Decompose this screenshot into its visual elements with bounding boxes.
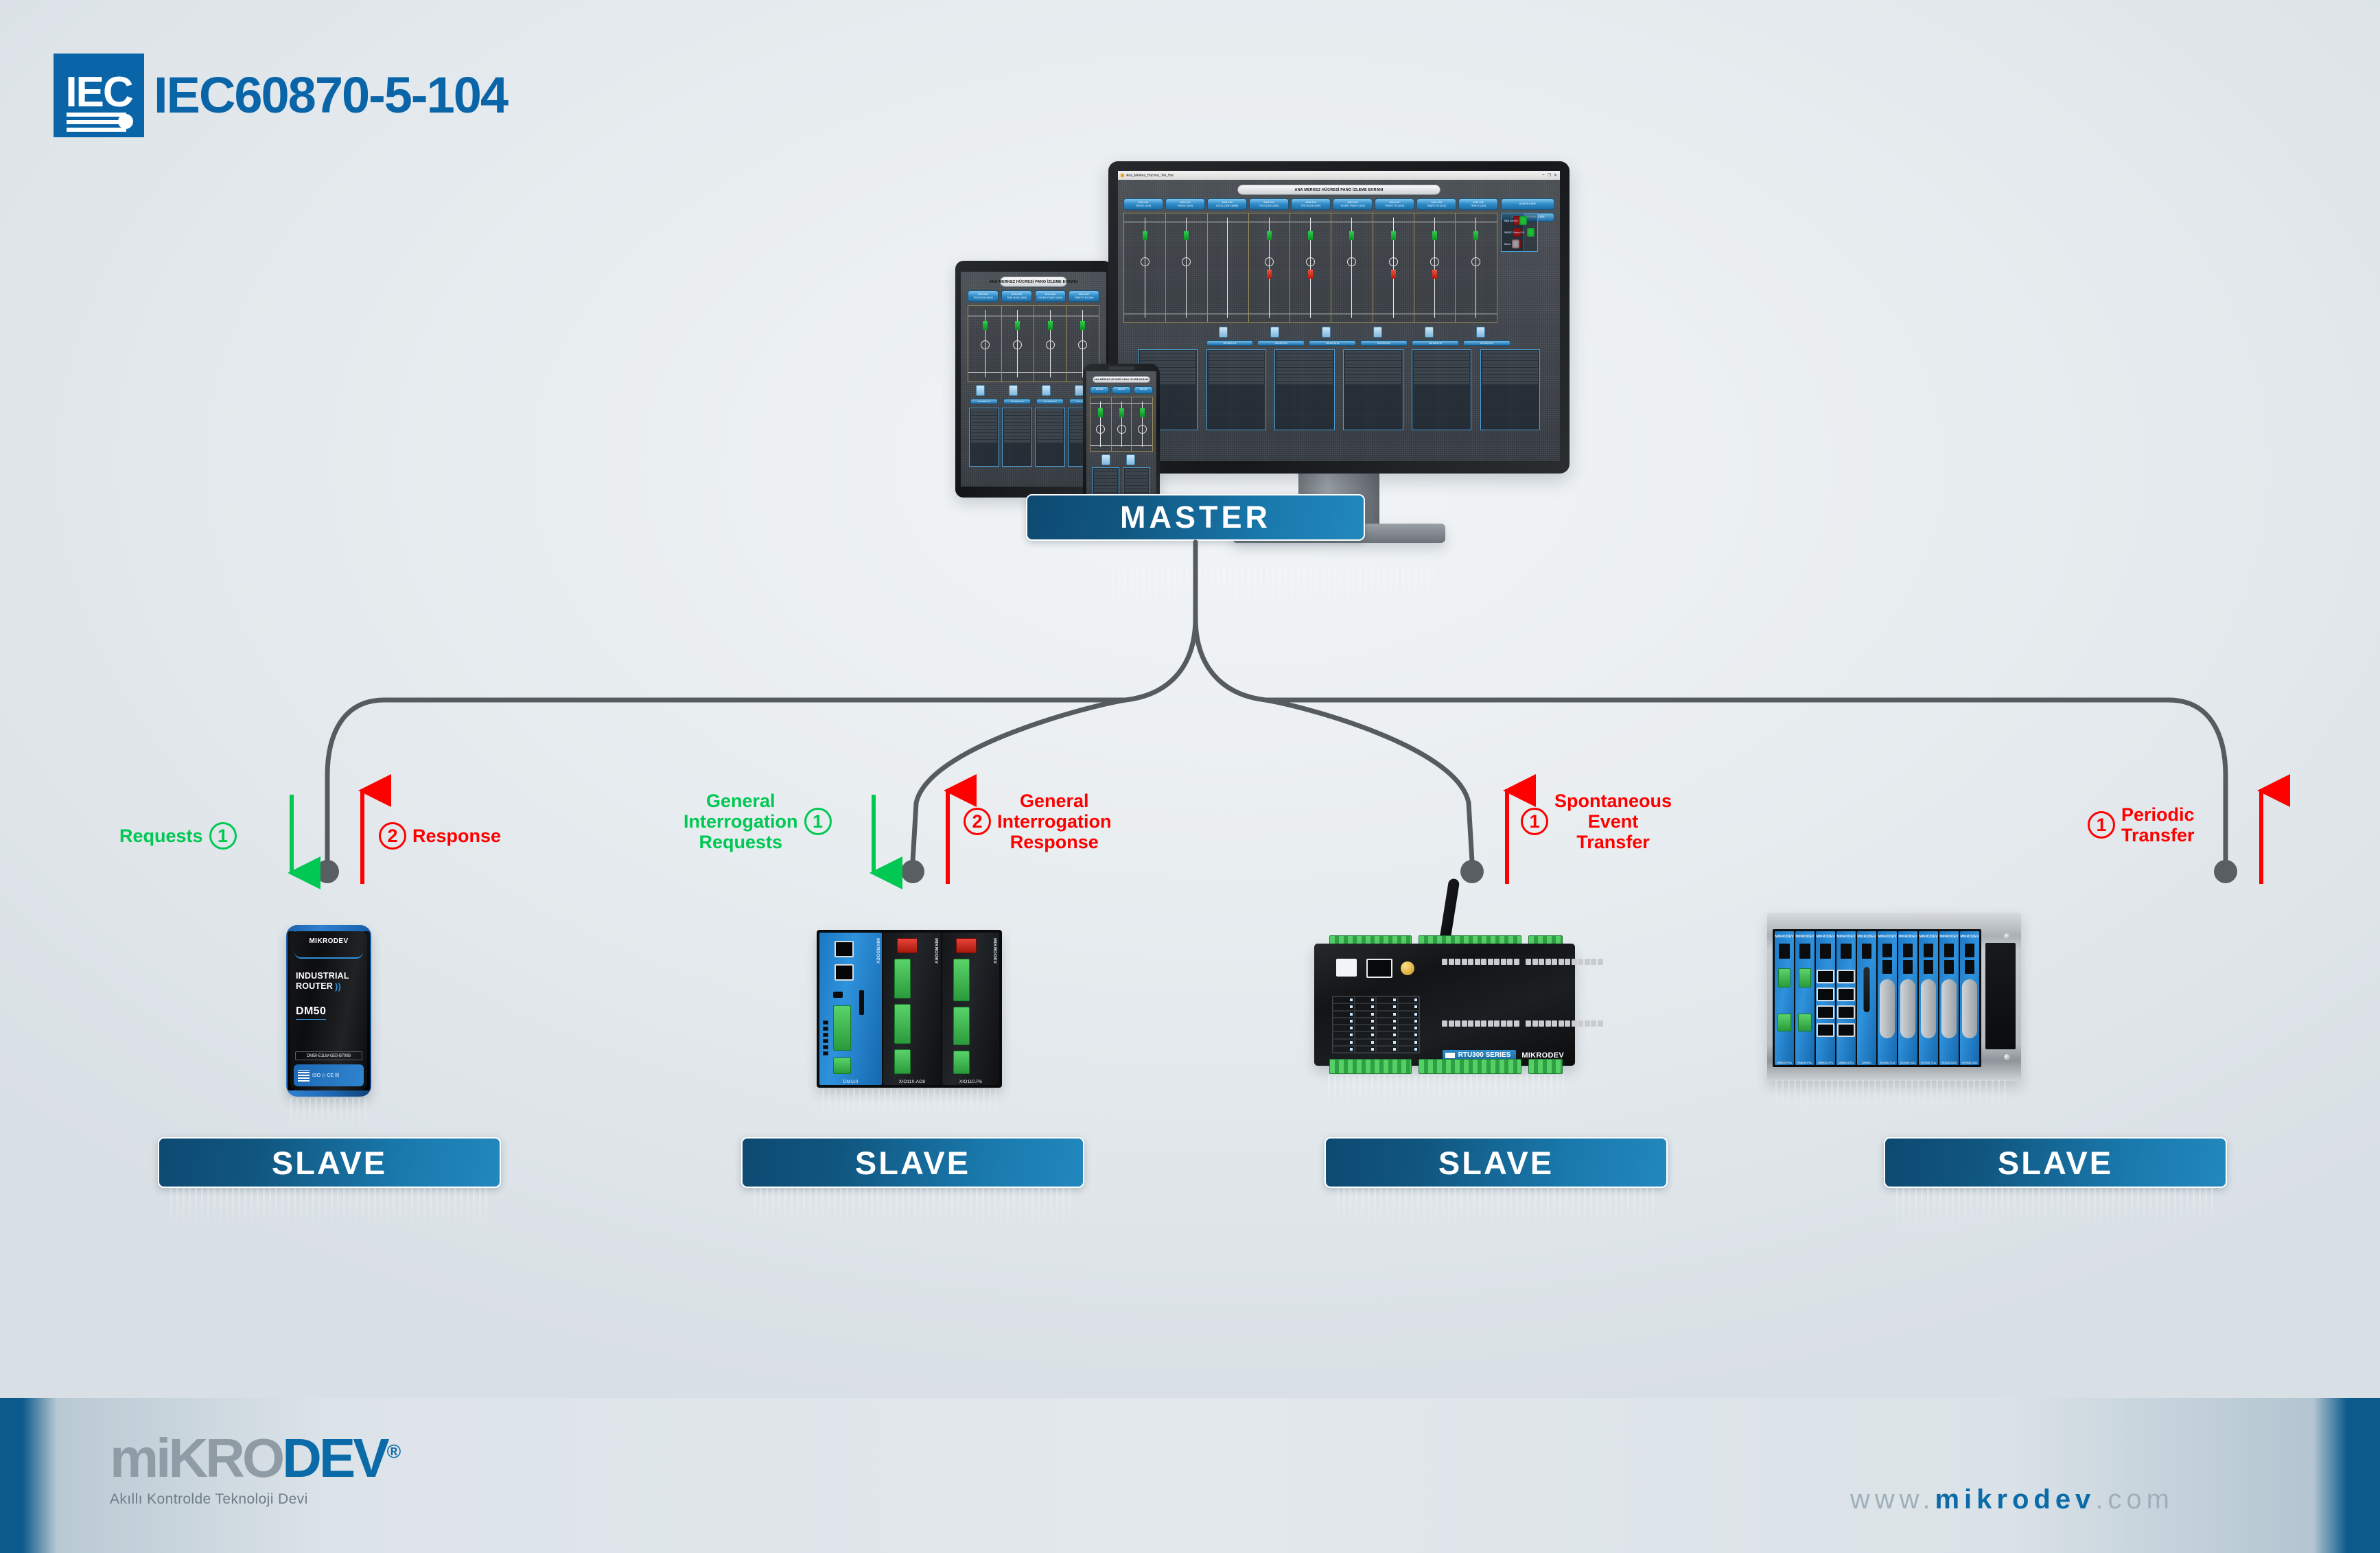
flow-label-periodic-transfer: 1 Periodic Transfer — [2088, 804, 2195, 845]
status-led — [1527, 228, 1535, 237]
slave-badge-1[interactable]: SLAVE — [158, 1137, 501, 1188]
rack-card-ai12: MIKRODEV XIO500.AI12 — [1919, 931, 1938, 1065]
window-maximize-icon[interactable]: ❐ — [1548, 173, 1551, 178]
router-title-line1: INDUSTRIAL — [296, 971, 362, 981]
plc-module-label: XIO110.P6 — [942, 1079, 999, 1084]
rack-card-di32: MIKRODEV XIO500.DI32 — [1960, 931, 1979, 1065]
rack-card-label: XIO500.DI32 — [1939, 1061, 1959, 1064]
rack-card-psu: MIKRODEV DM500.PSU — [1775, 931, 1794, 1065]
plc-module-cpu: MIKRODEV DM110 — [819, 933, 882, 1085]
scada-window-titlebar: Ana_Merkez_Hucresi_Tek_Hat – ❐ ✕ — [1118, 171, 1560, 180]
scada-window-title: Ana_Merkez_Hucresi_Tek_Hat — [1126, 174, 1174, 178]
flow-label-spontaneous-event-transfer: 1 Spontaneous Event Transfer — [1521, 791, 1672, 853]
flow-label-response: 2 Response — [379, 822, 501, 850]
scada-cell-button[interactable]: ADM-A03OG ÖLÇÜM KABİNİ — [1207, 198, 1247, 210]
scada-ip-label: 192.168.10.11 — [1206, 340, 1254, 346]
wire-endpoint-dot — [316, 860, 339, 883]
flow-label-requests: Requests 1 — [119, 822, 237, 850]
rack-card-ai12: MIKRODEV XIO500.AI12 — [1878, 931, 1897, 1065]
rack-card-label: XIO500.AI12 — [1878, 1061, 1897, 1064]
scada-screen-title-desktop: ANA MERKEZ HÜCRESİ PANO İZLEME EKRANI — [1237, 185, 1440, 195]
mikrodev-logo: miKRODEV® Akıllı Kontrolde Teknoloji Dev… — [110, 1431, 401, 1508]
wire-endpoint-dot — [901, 860, 924, 883]
scada-screen-desktop: Ana_Merkez_Hucresi_Tek_Hat – ❐ ✕ ANA MER… — [1118, 171, 1560, 461]
scada-cell-button[interactable]: ADM-A05TEKİ SLÜK ÇIKIŞ — [1001, 290, 1032, 302]
qr-code-icon — [298, 1070, 310, 1082]
scada-mimic-diagram-tablet — [968, 305, 1099, 382]
rack-card-label: DM500.CPU — [1836, 1061, 1856, 1064]
router-model: DM50 — [296, 1005, 326, 1020]
slave-badge-2[interactable]: SLAVE — [741, 1137, 1084, 1188]
scada-ip-label: 192.168.10.16 — [1463, 340, 1510, 346]
step-number-badge: 1 — [804, 808, 832, 835]
rack-card-label: DM500.CPU — [1816, 1061, 1835, 1064]
slave-device-modular-plc: MIKRODEV DM110 MIKRODEV XIO110.AO8 MIKRO… — [817, 930, 1002, 1088]
rack-card-label: XIO500.AI12 — [1919, 1061, 1938, 1064]
router-part-number: DM50-E1LW-GE0-B700B — [295, 1051, 362, 1060]
iec-logo-text: IEC — [54, 71, 144, 114]
url-prefix: www. — [1850, 1484, 1935, 1515]
scada-ip-label: 192.168.10.12 — [1257, 340, 1305, 346]
scada-cell-button[interactable]: ADM-A01YEDEK ÇIKIŞ — [1123, 198, 1163, 210]
scada-cell-button[interactable]: ADM-A07 — [1112, 386, 1131, 394]
brand-text-part2: RO — [205, 1427, 282, 1488]
rack-card-psu: MIKRODEV DM500.PSU — [1795, 931, 1815, 1065]
ethernet-port-icon — [1366, 959, 1392, 978]
scada-screen-title-tablet: ANA MERKEZ HÜCRESİ PANO İZLEME EKRANI — [1000, 277, 1067, 287]
scada-ip-label: 192.168.10.12 — [1003, 399, 1031, 404]
scada-ip-label: 192.168.10.15 — [1412, 340, 1459, 346]
plc-module-ao8: MIKRODEV XIO110.AO8 — [883, 933, 940, 1085]
scada-cell-button[interactable]: ADM-A07TRAFO TB ÇIKIŞ — [1069, 290, 1099, 302]
slave-device-industrial-router: MIKRODEV INDUSTRIAL ROUTER )) DM50 DM50-… — [286, 925, 371, 1097]
rack-backplane-connector — [1985, 943, 2016, 1049]
master-device-cluster: ANA MERKEZ HÜCRESİ PANO İZLEME EKRANI AD… — [947, 96, 1441, 522]
rack-card-cpu: MIKRODEV DM500.CPU — [1816, 931, 1835, 1065]
module-brand: MIKRODEV — [934, 938, 939, 964]
slave-badge-3[interactable]: SLAVE — [1325, 1137, 1668, 1188]
scada-cell-button[interactable]: ADM-A06 — [1090, 386, 1109, 394]
step-number-badge: 1 — [209, 822, 237, 850]
router-brand: MIKRODEV — [295, 937, 362, 945]
rack-card-label: DM500.PSU — [1775, 1061, 1794, 1064]
step-number-badge: 2 — [964, 808, 991, 835]
flow-label-general-interrogation-response: 2 General Interrogation Response — [964, 791, 1112, 853]
rack-card-modem: MIKRODEV DM500 — [1857, 931, 1876, 1065]
certification-marks: ISO ◇ CE ☒ — [312, 1073, 339, 1078]
scada-comm-header: HABERLEŞME — [1501, 198, 1554, 210]
scada-cell-button[interactable]: ADM-A06YEDEK TRAFO ÇIKIŞ — [1035, 290, 1066, 302]
step-number-badge: 1 — [2088, 811, 2115, 839]
brand-text-part3: DEV — [282, 1427, 387, 1488]
flow-label-general-interrogation-requests: General Interrogation Requests 1 — [684, 791, 832, 853]
wire-endpoint-dot — [2214, 860, 2237, 883]
step-number-badge: 1 — [1521, 808, 1548, 835]
brand-tagline: Akıllı Kontrolde Teknoloji Devi — [110, 1491, 401, 1508]
rtu-led-indicator-grid — [1332, 996, 1420, 1053]
plc-module-label: DM110 — [819, 1079, 882, 1084]
rtu-body: RTU300 SERIES MIKRODEV — [1314, 944, 1575, 1066]
slave-badge-4[interactable]: SLAVE — [1884, 1137, 2227, 1188]
website-url[interactable]: www.mikrodev.com — [1850, 1484, 2174, 1515]
smartphone-device: ANA MERKEZ HÜCRESİ PANO İZLEME EKRANI AD… — [1083, 364, 1160, 508]
wifi-icon: )) — [335, 981, 341, 992]
rack-card-di32: MIKRODEV XIO500.DI32 — [1939, 931, 1959, 1065]
scada-mimic-diagram-desktop — [1123, 213, 1497, 323]
desktop-monitor-device: Ana_Merkez_Hucresi_Tek_Hat – ❐ ✕ ANA MER… — [1108, 161, 1570, 535]
page-title: IEC60870-5-104 — [154, 70, 507, 121]
iec-logo-icon: IEC — [54, 54, 144, 137]
wire-endpoint-dot — [1460, 860, 1484, 883]
scada-ip-label: 192.168.10.14 — [1360, 340, 1408, 346]
scada-cell-buttons-tablet: ADM-A04TEKİ SLÜK ÇIKIŞ ADM-A05TEKİ SLÜK … — [961, 290, 1106, 302]
scada-cell-button[interactable]: ADM-A07TRAFO TB ÇIKIŞ — [1375, 198, 1414, 210]
scada-ip-label: 192.168.10.13 — [1036, 399, 1064, 404]
rack-card-slots: MIKRODEV DM500.PSU MIKRODEV DM500.PSU MI… — [1773, 929, 1981, 1067]
scada-cell-button[interactable]: ADM-A06YEDEK TRAFO ÇIKIŞ — [1333, 198, 1373, 210]
footer: miKRODEV® Akıllı Kontrolde Teknoloji Dev… — [0, 1398, 2380, 1553]
rack-card-label: DM500 — [1857, 1061, 1876, 1064]
scada-status-panel: Giriş Gerilimi YARDC Sistemi OK Arıza — [1501, 213, 1538, 252]
rtu-brand: MIKRODEV — [1521, 1051, 1564, 1060]
window-minimize-icon[interactable]: – — [1542, 173, 1544, 178]
scada-ip-label: 192.168.10.13 — [1309, 340, 1356, 346]
monitor-bezel: Ana_Merkez_Hucresi_Tek_Hat – ❐ ✕ ANA MER… — [1108, 161, 1570, 474]
rack-card-ai12: MIKRODEV XIO500.AI12 — [1898, 931, 1917, 1065]
slave-device-rtu300: RTU300 SERIES MIKRODEV — [1314, 944, 1575, 1081]
master-badge[interactable]: MASTER — [1026, 494, 1365, 541]
slave-device-modular-rack: MIKRODEV DM500.PSU MIKRODEV DM500.PSU MI… — [1767, 913, 2021, 1081]
registered-trademark-icon: ® — [387, 1440, 401, 1462]
scada-cell-button[interactable]: ADM-A08TRAFO TB ÇIKIŞ — [1416, 198, 1456, 210]
scada-cell-button[interactable]: ADM-A09TRAFO ÇIKIŞ — [1458, 198, 1498, 210]
scada-screen-title-phone: ANA MERKEZ HÜCRESİ PANO İZLEME EKRANI — [1093, 376, 1150, 383]
url-suffix: .com — [2095, 1484, 2174, 1515]
scada-ip-label: 192.168.10.11 — [970, 399, 998, 404]
scada-screen-phone: ANA MERKEZ HÜCRESİ PANO İZLEME EKRANI AD… — [1086, 371, 1156, 500]
status-led — [1519, 216, 1527, 225]
plc-dm110-stack: MIKRODEV DM110 MIKRODEV XIO110.AO8 MIKRO… — [817, 930, 1002, 1088]
scada-cell-button[interactable]: ADM-A04TEKİ SLÜK ÇIKIŞ — [1249, 198, 1289, 210]
plc-module-p6: MIKRODEV XIO110.P6 — [942, 933, 999, 1085]
scada-cell-button[interactable]: ADM-A05TEKİ SLÜK ÇIKIŞ — [1291, 198, 1331, 210]
router-title-line2: ROUTER — [296, 981, 333, 992]
rack-card-label: XIO500.DI32 — [1960, 1061, 1979, 1064]
window-close-icon[interactable]: ✕ — [1554, 173, 1557, 178]
scada-cell-button[interactable]: ADM-A02YEDEK ÇIKIŞ — [1165, 198, 1205, 210]
brand-text-part1: miK — [110, 1427, 205, 1488]
step-number-badge: 2 — [379, 822, 406, 850]
scada-cell-button[interactable]: ADM-A08 — [1134, 386, 1153, 394]
header: IEC IEC60870-5-104 — [54, 54, 507, 137]
status-led — [1512, 240, 1519, 248]
module-brand: MIKRODEV — [875, 938, 880, 964]
usb-port-icon — [1336, 959, 1357, 977]
rack-card-label: DM500.PSU — [1795, 1061, 1815, 1064]
rack-card-label: XIO500.AI12 — [1898, 1061, 1917, 1064]
router-dm50: MIKRODEV INDUSTRIAL ROUTER )) DM50 DM50-… — [286, 925, 371, 1097]
scada-cell-button[interactable]: ADM-A04TEKİ SLÜK ÇIKIŞ — [968, 290, 999, 302]
module-brand: MIKRODEV — [992, 938, 997, 964]
antenna-connector-icon — [1401, 961, 1414, 975]
plc-module-label: XIO110.AO8 — [883, 1079, 940, 1084]
url-host: mikrodev — [1935, 1484, 2095, 1515]
rack-card-cpu: MIKRODEV DM500.CPU — [1836, 931, 1856, 1065]
